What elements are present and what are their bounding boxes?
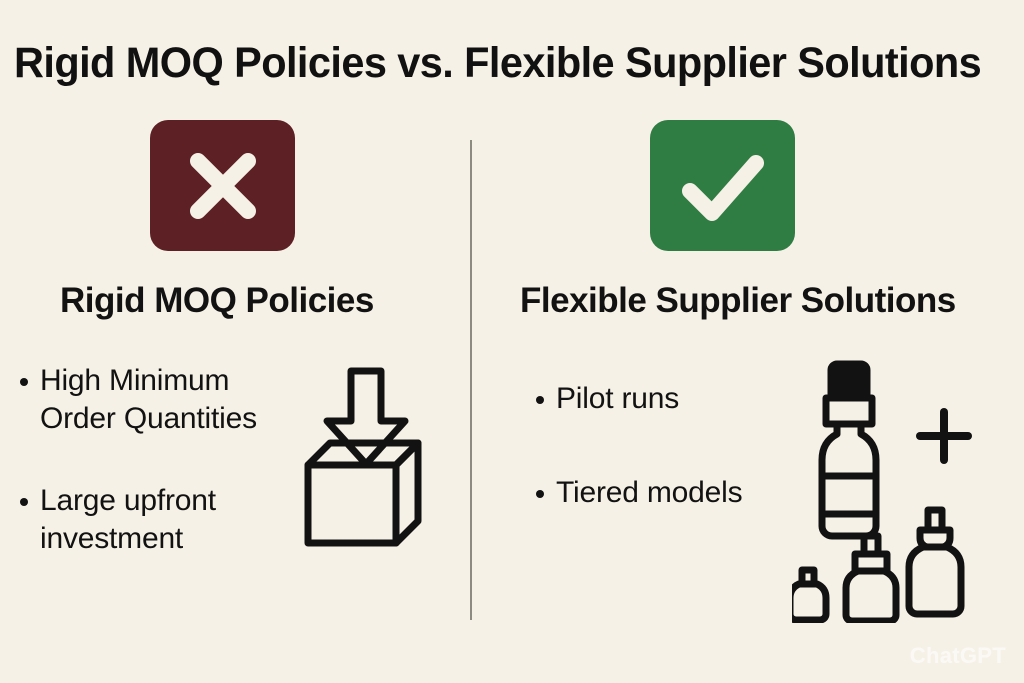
cross-icon <box>180 143 266 229</box>
column-heading-rigid-moq: Rigid MOQ Policies <box>60 280 374 322</box>
list-item: High Minimum Order Quantities <box>18 362 308 438</box>
check-icon <box>676 143 770 229</box>
column-rigid-moq: Rigid MOQ Policies High Minimum Order Qu… <box>0 0 470 683</box>
status-badge-positive <box>650 120 795 251</box>
list-item: Large upfront investment <box>18 482 308 558</box>
list-item: Tiered models <box>534 474 794 512</box>
bottles-group-icon <box>792 358 982 628</box>
bullet-list-flexible-supplier: Pilot runs Tiered models <box>534 380 794 568</box>
box-with-down-arrow-icon <box>302 365 430 555</box>
bullet-list-rigid-moq: High Minimum Order Quantities Large upfr… <box>18 362 308 602</box>
column-heading-flexible-supplier: Flexible Supplier Solutions <box>520 280 956 322</box>
list-item: Pilot runs <box>534 380 794 418</box>
infographic-canvas: Rigid MOQ Policies vs. Flexible Supplier… <box>0 0 1024 683</box>
column-flexible-supplier: Flexible Supplier Solutions Pilot runs T… <box>472 0 1024 683</box>
status-badge-negative <box>150 120 295 251</box>
